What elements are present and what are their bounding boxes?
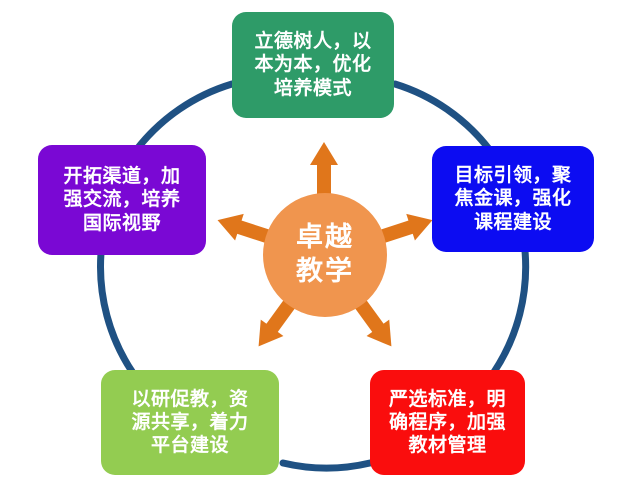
node-bottom-right-line-3: 教材管理 [376, 434, 519, 457]
center-hub-excellent-teaching[interactable]: 卓越 教学 [263, 193, 387, 317]
node-bottom-left-label: 以研促教，资 源共享，着力 平台建设 [107, 388, 273, 458]
node-bottom-left-research-platform[interactable]: 以研促教，资 源共享，着力 平台建设 [101, 370, 279, 475]
diagram-canvas: 立德树人，以 本为本，优化 培养模式 目标引领，聚 焦金课，强化 课程建设 严选… [0, 0, 627, 495]
node-right-line-3: 课程建设 [438, 211, 588, 234]
node-left-line-2: 强交流，培养 [44, 188, 200, 211]
node-left-international-vision[interactable]: 开拓渠道，加 强交流，培养 国际视野 [38, 145, 206, 255]
center-hub-label: 卓越 教学 [296, 221, 354, 289]
node-left-line-3: 国际视野 [44, 212, 200, 235]
node-left-line-1: 开拓渠道，加 [44, 165, 200, 188]
node-bottom-right-label: 严选标准，明 确程序，加强 教材管理 [376, 388, 519, 458]
node-right-line-1: 目标引领，聚 [438, 164, 588, 187]
center-hub-line-2: 教学 [296, 255, 354, 289]
node-right-curriculum[interactable]: 目标引领，聚 焦金课，强化 课程建设 [432, 146, 594, 252]
node-top-line-3: 培养模式 [238, 77, 388, 100]
node-top-line-2: 本为本，优化 [238, 53, 388, 76]
node-top-moral-education[interactable]: 立德树人，以 本为本，优化 培养模式 [232, 12, 394, 118]
node-right-line-2: 焦金课，强化 [438, 187, 588, 210]
node-bottom-left-line-3: 平台建设 [107, 434, 273, 457]
node-bottom-left-line-1: 以研促教，资 [107, 388, 273, 411]
node-bottom-right-line-2: 确程序，加强 [376, 411, 519, 434]
node-top-line-1: 立德树人，以 [238, 30, 388, 53]
node-bottom-left-line-2: 源共享，着力 [107, 411, 273, 434]
node-left-label: 开拓渠道，加 强交流，培养 国际视野 [44, 165, 200, 235]
arrow-up [310, 142, 338, 196]
node-bottom-right-textbook-management[interactable]: 严选标准，明 确程序，加强 教材管理 [370, 370, 525, 475]
node-right-label: 目标引领，聚 焦金课，强化 课程建设 [438, 164, 588, 234]
node-top-label: 立德树人，以 本为本，优化 培养模式 [238, 30, 388, 100]
center-hub-line-1: 卓越 [296, 221, 354, 255]
node-bottom-right-line-1: 严选标准，明 [376, 388, 519, 411]
